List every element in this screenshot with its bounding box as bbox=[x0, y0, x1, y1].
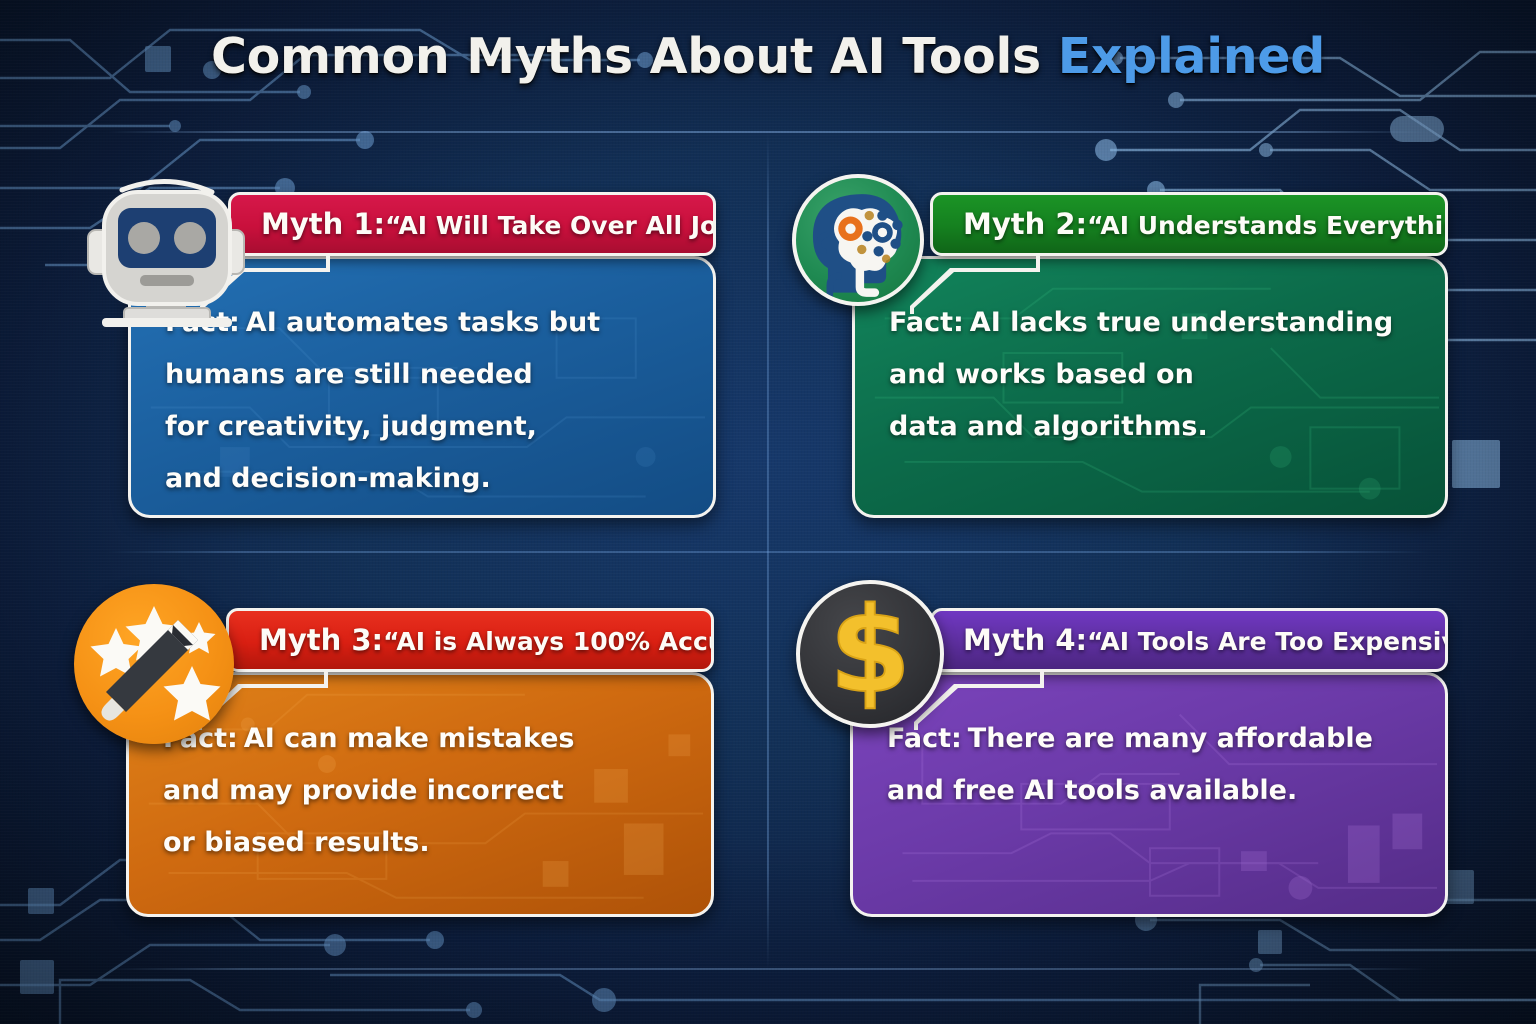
divider-vertical bbox=[767, 132, 769, 970]
page-title: Common Myths About AI Tools Explained bbox=[0, 28, 1536, 85]
myth-header-4[interactable]: Myth 4:“AI Tools Are Too Expensive” bbox=[930, 608, 1448, 672]
divider-horizontal bbox=[108, 551, 1428, 553]
myth-quote-4: “AI Tools Are Too Expensive” bbox=[1087, 627, 1448, 656]
myth-number-3: Myth 3: bbox=[259, 623, 383, 657]
myth-quote-2: “AI Understands Everything” bbox=[1087, 211, 1448, 240]
myth-header-text-4: Myth 4:“AI Tools Are Too Expensive” bbox=[933, 623, 1448, 657]
myth-header-text-3: Myth 3:“AI is Always 100% Accurate” bbox=[229, 623, 714, 657]
myth-quote-3: “AI is Always 100% Accurate” bbox=[383, 627, 714, 656]
divider-top bbox=[108, 131, 1428, 133]
fact-line: data and algorithms. bbox=[889, 401, 1419, 453]
myth-header-2[interactable]: Myth 2:“AI Understands Everything” bbox=[930, 192, 1448, 256]
fact-line: and may provide incorrect bbox=[163, 765, 685, 817]
fact-line: and free AI tools available. bbox=[887, 765, 1419, 817]
svg-text:$: $ bbox=[829, 582, 911, 719]
myth-number-2: Myth 2: bbox=[963, 207, 1087, 241]
fact-line: and decision-making. bbox=[165, 453, 687, 505]
fact-line: and works based on bbox=[889, 349, 1419, 401]
magic-wand-stars-icon bbox=[74, 584, 234, 744]
myth-number-1: Myth 1: bbox=[261, 207, 385, 241]
infographic-canvas: Common Myths About AI Tools Explained F bbox=[0, 0, 1536, 1024]
divider-bottom bbox=[108, 968, 1428, 970]
fact-line: for creativity, judgment, bbox=[165, 401, 687, 453]
myth-header-text-1: Myth 1:“AI Will Take Over All Jobs” bbox=[231, 207, 716, 241]
dollar-coin-icon: $ bbox=[796, 580, 944, 728]
fact-line: humans are still needed bbox=[165, 349, 687, 401]
brain-head-gear-icon bbox=[792, 174, 924, 306]
speech-tail-2 bbox=[908, 252, 1048, 316]
fact-line: or biased results. bbox=[163, 817, 685, 869]
page-title-accent: Explained bbox=[1058, 28, 1325, 85]
myth-header-text-2: Myth 2:“AI Understands Everything” bbox=[933, 207, 1448, 241]
myth-header-3[interactable]: Myth 3:“AI is Always 100% Accurate” bbox=[226, 608, 714, 672]
myth-quote-1: “AI Will Take Over All Jobs” bbox=[385, 211, 716, 240]
myth-header-1[interactable]: Myth 1:“AI Will Take Over All Jobs” bbox=[228, 192, 716, 256]
robot-head-icon bbox=[78, 174, 254, 334]
myth-number-4: Myth 4: bbox=[963, 623, 1087, 657]
page-title-main: Common Myths About AI Tools bbox=[211, 28, 1041, 85]
